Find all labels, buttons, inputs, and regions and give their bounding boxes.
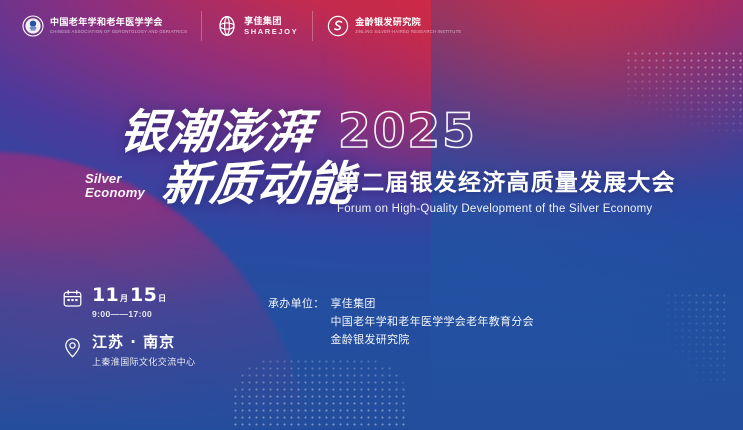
event-location-text: 江苏 · 南京 上秦淮国际文化交流中心 (92, 335, 195, 368)
event-time: 9:00——17:00 (92, 309, 168, 319)
event-info-block: 11 月 15 日 9:00——17:00 江苏 · 南京 上秦淮国际文化交流中… (62, 286, 195, 368)
event-month-unit: 月 (120, 295, 128, 303)
organizer-item: 金龄银发研究院 (331, 331, 534, 349)
event-date-row: 11 月 15 日 9:00——17:00 (62, 286, 195, 319)
map-pin-icon (62, 337, 83, 358)
event-day-unit: 日 (158, 295, 166, 303)
event-day-number: 15 (130, 286, 157, 305)
headline-line-2: 新质动能 (159, 161, 356, 209)
logo-sharejoy: 享佳集团 SHAREJOY (201, 11, 312, 41)
event-date-text: 11 月 15 日 9:00——17:00 (92, 286, 168, 319)
event-date-line: 11 月 15 日 (92, 286, 168, 305)
silver-economy-tagline: Silver Economy (85, 172, 145, 200)
conference-title-cn: 第二届银发经济高质量发展大会 (337, 163, 676, 197)
logo-name-cn: 享佳集团 (244, 17, 298, 26)
conference-poster: 中国老年学和老年医学学会 CHINESE ASSOCIATION OF GERO… (0, 0, 743, 430)
event-venue: 上秦淮国际文化交流中心 (92, 355, 195, 368)
organizer-label: 承办单位： (268, 295, 325, 349)
event-city: 江苏 · 南京 (92, 335, 195, 350)
logo-name-en: JINLING SILVER-HAIRED RESEARCH INSTITUTE (355, 30, 461, 34)
conference-title-en: Forum on High-Quality Development of the… (337, 203, 676, 215)
calendar-icon (62, 288, 83, 309)
headline-row-1: 银潮澎湃 2025 (120, 108, 720, 157)
logo-chinese-gerontology-society: 中国老年学和老年医学学会 CHINESE ASSOCIATION OF GERO… (22, 11, 201, 41)
logo-text-block: 享佳集团 SHAREJOY (244, 17, 298, 36)
conference-title-block: 第二届银发经济高质量发展大会 Forum on High-Quality Dev… (337, 163, 676, 215)
organizer-item: 中国老年学和老年医学学会老年教育分会 (331, 313, 534, 331)
organizer-block: 承办单位： 享佳集团 中国老年学和老年医学学会老年教育分会 金龄银发研究院 (268, 295, 534, 349)
logo-text-block: 金龄银发研究院 JINLING SILVER-HAIRED RESEARCH I… (355, 18, 461, 34)
sponsor-logo-bar: 中国老年学和老年医学学会 CHINESE ASSOCIATION OF GERO… (22, 11, 475, 41)
logo-name-cn: 中国老年学和老年医学学会 (50, 18, 187, 27)
sharejoy-logo-icon (216, 15, 238, 37)
jinling-logo-icon (327, 15, 349, 37)
headline-line-1: 银潮澎湃 (117, 109, 314, 157)
organizer-list: 享佳集团 中国老年学和老年医学学会老年教育分会 金龄银发研究院 (331, 295, 534, 349)
silver-economy-line2: Economy (85, 186, 145, 200)
event-location-row: 江苏 · 南京 上秦淮国际文化交流中心 (62, 335, 195, 368)
organizer-item: 享佳集团 (331, 295, 534, 313)
logo-jinling-research-institute: 金龄银发研究院 JINLING SILVER-HAIRED RESEARCH I… (312, 11, 475, 41)
logo-name-cn: 金龄银发研究院 (355, 18, 461, 27)
year-label: 2025 (338, 108, 477, 157)
silver-economy-line1: Silver (85, 172, 145, 186)
logo-name-en: SHAREJOY (244, 28, 298, 36)
logo-text-block: 中国老年学和老年医学学会 CHINESE ASSOCIATION OF GERO… (50, 18, 187, 34)
society-emblem-icon (22, 15, 44, 37)
event-month-number: 11 (92, 286, 119, 305)
logo-name-en: CHINESE ASSOCIATION OF GERONTOLOGY AND G… (50, 30, 187, 34)
